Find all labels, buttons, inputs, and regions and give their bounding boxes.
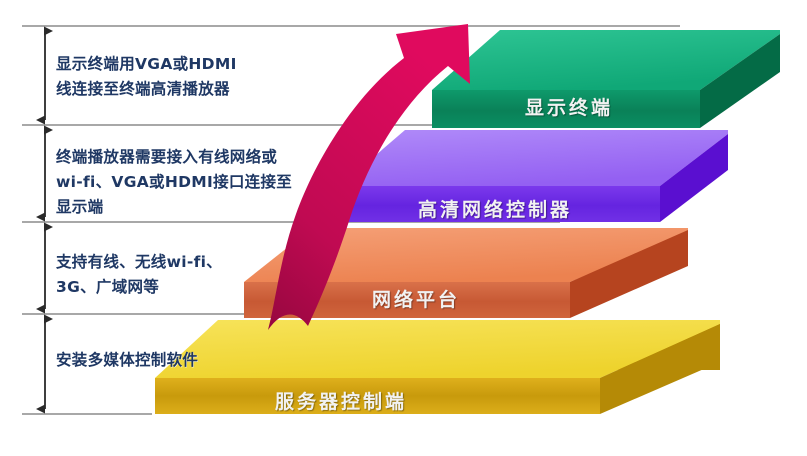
desc-hd-controller: 终端播放器需要接入有线网络或 wi-fi、VGA或HDMI接口连接至 显示端 <box>56 145 324 220</box>
layer-display-terminal[interactable] <box>432 30 780 128</box>
desc-display-terminal: 显示终端用VGA或HDMI 线连接至终端高清播放器 <box>56 52 318 102</box>
diagram-canvas: 显示终端用VGA或HDMI 线连接至终端高清播放器 终端播放器需要接入有线网络或… <box>0 0 807 456</box>
layer-server-console-front <box>155 378 600 414</box>
desc-server-console: 安装多媒体控制软件 <box>56 348 306 373</box>
layer-hd-network-controller-front <box>340 186 660 222</box>
layer-display-terminal-front <box>432 90 700 128</box>
desc-network-platform: 支持有线、无线wi-fi、 3G、广域网等 <box>56 250 306 300</box>
layer-hd-network-controller[interactable] <box>340 130 728 222</box>
layer-hd-network-controller-top <box>340 130 728 186</box>
